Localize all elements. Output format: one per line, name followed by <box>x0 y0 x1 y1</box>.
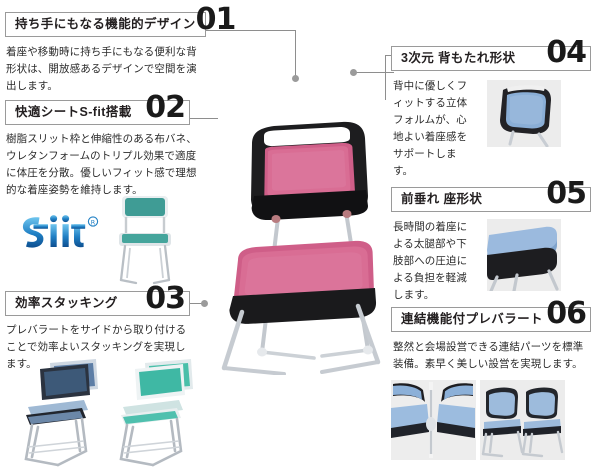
feature-number-04: 04 <box>546 41 586 64</box>
feature-number-02: 02 <box>145 96 185 119</box>
connector-dot-01 <box>292 75 299 82</box>
connector-dot-04 <box>350 69 357 76</box>
sfit-logo: R <box>18 212 106 257</box>
seat-edge-detail-photo <box>487 219 561 291</box>
feature-number-03: 03 <box>145 287 185 310</box>
feature-number-05: 05 <box>546 182 586 205</box>
feature-box-05: 前垂れ 座形状 05 <box>391 187 591 212</box>
infographic-page: 持ち手にもなる機能的デザイン 01 着座や移動時に持ち手にもなる便利な背形状は、… <box>0 0 600 475</box>
feature-title-06: 連結機能付プレバラート <box>401 313 543 326</box>
feature-title-02: 快適シートS-fit搭載 <box>15 106 132 119</box>
svg-text:R: R <box>91 218 96 226</box>
feature-box-01: 持ち手にもなる機能的デザイン 01 <box>5 12 206 37</box>
sfit-logo-mark: R <box>18 212 106 252</box>
connector-line-01-vertical <box>295 30 296 78</box>
feature-box-03: 効率スタッキング 03 <box>5 291 190 316</box>
feature-body-02: 樹脂スリット枠と伸縮性のある布バネ、ウレタンフォームのトリプル効果で適度に体圧を… <box>6 131 202 199</box>
feature-title-01: 持ち手にもなる機能的デザイン <box>15 18 196 31</box>
feature-body-03: プレバラートをサイドから取り付けることで効率よいスタッキングを実現します。 <box>6 322 196 373</box>
connector-line-04-horizontal <box>352 72 394 73</box>
linked-chairs-detail-photo <box>391 380 476 460</box>
main-chair-photo <box>218 100 398 375</box>
feature-body-05: 長時間の着座による太腿部や下肢部への圧迫による負担を軽減します。 <box>393 219 469 304</box>
feature-body-04: 背中に優しくフィットする立体フォルムが、心地よい着座感をサポートします。 <box>393 78 469 180</box>
feature-number-01: 01 <box>196 8 236 31</box>
feature-title-03: 効率スタッキング <box>15 297 118 310</box>
feature-box-04: 3次元 背もたれ形状 04 <box>391 46 591 71</box>
feature-box-02: 快適シートS-fit搭載 02 <box>5 100 190 125</box>
feature-body-01: 着座や移動時に持ち手にもなる便利な背形状は、開放感あるデザインで空間を演出します… <box>6 44 202 95</box>
backrest-detail-photo <box>487 80 561 147</box>
feature-body-06: 整然と会場設営できる連結パーツを標準装備。素早く美しい設営を実現します。 <box>393 339 593 373</box>
feature-number-06: 06 <box>546 302 586 325</box>
registered-trademark-icon: R <box>88 217 97 226</box>
linked-chairs-pair-photo <box>480 380 565 460</box>
feature-box-06: 連結機能付プレバラート 06 <box>391 307 591 332</box>
connector-dot-03 <box>201 300 208 307</box>
feature-title-05: 前垂れ 座形状 <box>401 193 482 206</box>
green-chair-photo <box>110 186 180 290</box>
feature-title-04: 3次元 背もたれ形状 <box>401 52 515 65</box>
